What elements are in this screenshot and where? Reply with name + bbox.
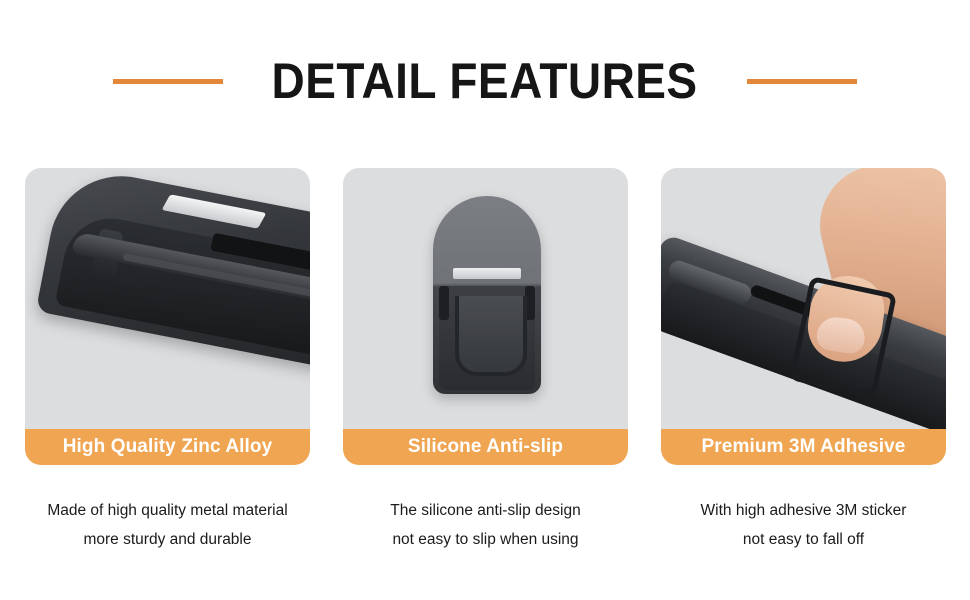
stand-notch-left-shape — [439, 286, 449, 320]
title-dash-right-icon — [747, 79, 857, 84]
caption-line-2: more sturdy and durable — [25, 525, 310, 554]
caption-line-1: Made of high quality metal material — [25, 496, 310, 525]
silicone-strip-shape — [453, 268, 521, 279]
feature-label-band-adhesive: Premium 3M Adhesive — [661, 429, 946, 465]
feature-card-zinc-alloy: High Quality Zinc Alloy Made of high qua… — [25, 168, 310, 554]
page-header: DETAIL FEATURES — [0, 52, 970, 110]
feature-image-zinc-alloy — [25, 168, 310, 430]
feature-label-band-silicone: Silicone Anti-slip — [343, 429, 628, 465]
feature-caption-silicone: The silicone anti-slip design not easy t… — [343, 496, 628, 554]
feature-image-adhesive — [661, 168, 946, 430]
feature-label-text: Premium 3M Adhesive — [702, 436, 906, 458]
feature-card-adhesive: Premium 3M Adhesive With high adhesive 3… — [661, 168, 946, 554]
caption-line-2: not easy to fall off — [661, 525, 946, 554]
page-title: DETAIL FEATURES — [272, 56, 698, 106]
feature-caption-adhesive: With high adhesive 3M sticker not easy t… — [661, 496, 946, 554]
feature-caption-zinc-alloy: Made of high quality metal material more… — [25, 496, 310, 554]
feature-card-list: High Quality Zinc Alloy Made of high qua… — [25, 168, 946, 554]
caption-line-2: not easy to slip when using — [343, 525, 628, 554]
stand-kickstand-shape — [455, 296, 527, 376]
feature-image-silicone — [343, 168, 628, 430]
title-dash-left-icon — [113, 79, 223, 84]
caption-line-1: With high adhesive 3M sticker — [661, 496, 946, 525]
product-photo-illustration — [25, 168, 310, 430]
caption-line-1: The silicone anti-slip design — [343, 496, 628, 525]
feature-label-text: Silicone Anti-slip — [408, 436, 563, 458]
feature-label-band-zinc-alloy: High Quality Zinc Alloy — [25, 429, 310, 465]
feature-card-silicone: Silicone Anti-slip The silicone anti-sli… — [343, 168, 628, 554]
feature-label-text: High Quality Zinc Alloy — [63, 436, 273, 458]
